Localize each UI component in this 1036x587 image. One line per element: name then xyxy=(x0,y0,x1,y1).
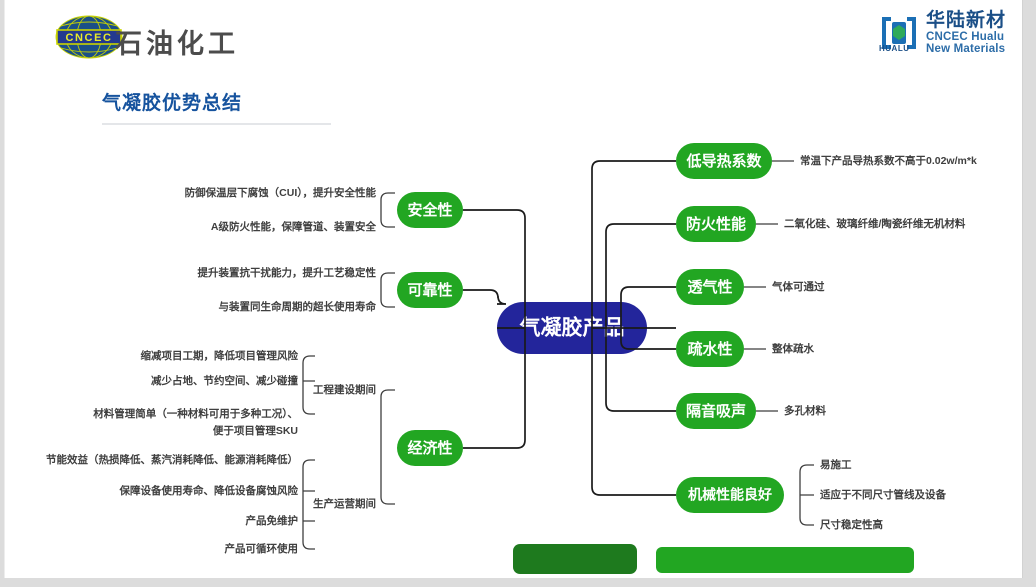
branch-node-5[interactable]: 隔音吸声 xyxy=(676,393,756,429)
leaf-bracket xyxy=(381,193,395,227)
branch-node-left-1-label: 安全性 xyxy=(407,201,452,219)
leaf-label: 气体可通过 xyxy=(771,280,825,293)
leaf-label-cont: 便于项目管理SKU xyxy=(213,424,298,437)
leaf-label: 减少占地、节约空间、减少碰撞 xyxy=(151,374,298,387)
branch-node-6[interactable]: 机械性能良好 xyxy=(676,477,784,513)
leaf-bracket xyxy=(381,273,395,307)
mindmap: 气凝胶产品低导热系数常温下产品导热系数不高于0.02w/m*k防火性能二氧化硅、… xyxy=(5,0,1022,578)
branch-node-1-label: 低导热系数 xyxy=(685,152,762,170)
branch-node-left-2[interactable]: 可靠性 xyxy=(397,272,463,308)
leaf-label: A级防火性能，保障管道、装置安全 xyxy=(211,220,377,233)
screenshot-root: CNCEC 石油化工 华陆新材 CNCEC Hualu New Material… xyxy=(0,0,1036,587)
leaf-label: 保障设备使用寿命、降低设备腐蚀风险 xyxy=(119,484,299,497)
branch-node-left-1[interactable]: 安全性 xyxy=(397,192,463,228)
branch-node-1[interactable]: 低导热系数 xyxy=(676,143,772,179)
branch-node-2-label: 防火性能 xyxy=(686,215,746,233)
branch-node-3-label: 透气性 xyxy=(687,278,732,296)
branch-node-left-3[interactable]: 经济性 xyxy=(397,430,463,466)
group-label: 生产运营期间 xyxy=(313,497,376,510)
bottom-bar-partial xyxy=(656,547,914,573)
group-bracket xyxy=(381,390,395,504)
slide-canvas: CNCEC 石油化工 华陆新材 CNCEC Hualu New Material… xyxy=(4,0,1023,578)
leaf-label: 产品免维护 xyxy=(246,514,299,527)
leaf-label: 材料管理简单（一种材料可用于多种工况）、 xyxy=(92,407,298,420)
branch-node-left-2-label: 可靠性 xyxy=(407,281,452,299)
leaf-label: 节能效益（热损降低、蒸汽消耗降低、能源消耗降低） xyxy=(46,453,298,466)
leaf-label: 易施工 xyxy=(820,458,852,471)
leaf-label: 整体疏水 xyxy=(771,342,814,355)
branch-node-2[interactable]: 防火性能 xyxy=(676,206,756,242)
leaf-label: 提升装置抗干扰能力，提升工艺稳定性 xyxy=(198,266,377,279)
branch-node-3[interactable]: 透气性 xyxy=(676,269,744,305)
branch-node-5-label: 隔音吸声 xyxy=(686,402,746,420)
branch-node-left-3-label: 经济性 xyxy=(407,439,452,457)
leaf-label: 多孔材料 xyxy=(784,404,826,417)
bottom-node-partial xyxy=(513,544,637,574)
leaf-label: 与装置同生命周期的超长使用寿命 xyxy=(219,300,377,313)
group-label: 工程建设期间 xyxy=(313,383,376,396)
leaf-label: 二氧化硅、玻璃纤维/陶瓷纤维无机材料 xyxy=(784,217,966,230)
left-connector-inner xyxy=(463,290,506,304)
leaf-label: 缩减项目工期，降低项目管理风险 xyxy=(141,349,299,362)
branch-node-6-label: 机械性能良好 xyxy=(688,487,772,503)
leaf-bracket xyxy=(800,465,814,525)
leaf-label: 尺寸稳定性高 xyxy=(820,518,883,531)
branch-node-4-label: 疏水性 xyxy=(687,340,732,358)
leaf-label: 防御保温层下腐蚀（CUI），提升安全性能 xyxy=(185,186,377,199)
leaf-label: 产品可循环使用 xyxy=(225,542,299,555)
leaf-label: 适应于不同尺寸管线及设备 xyxy=(820,488,946,501)
leaf-label: 常温下产品导热系数不高于0.02w/m*k xyxy=(800,154,977,167)
branch-node-4[interactable]: 疏水性 xyxy=(676,331,744,367)
